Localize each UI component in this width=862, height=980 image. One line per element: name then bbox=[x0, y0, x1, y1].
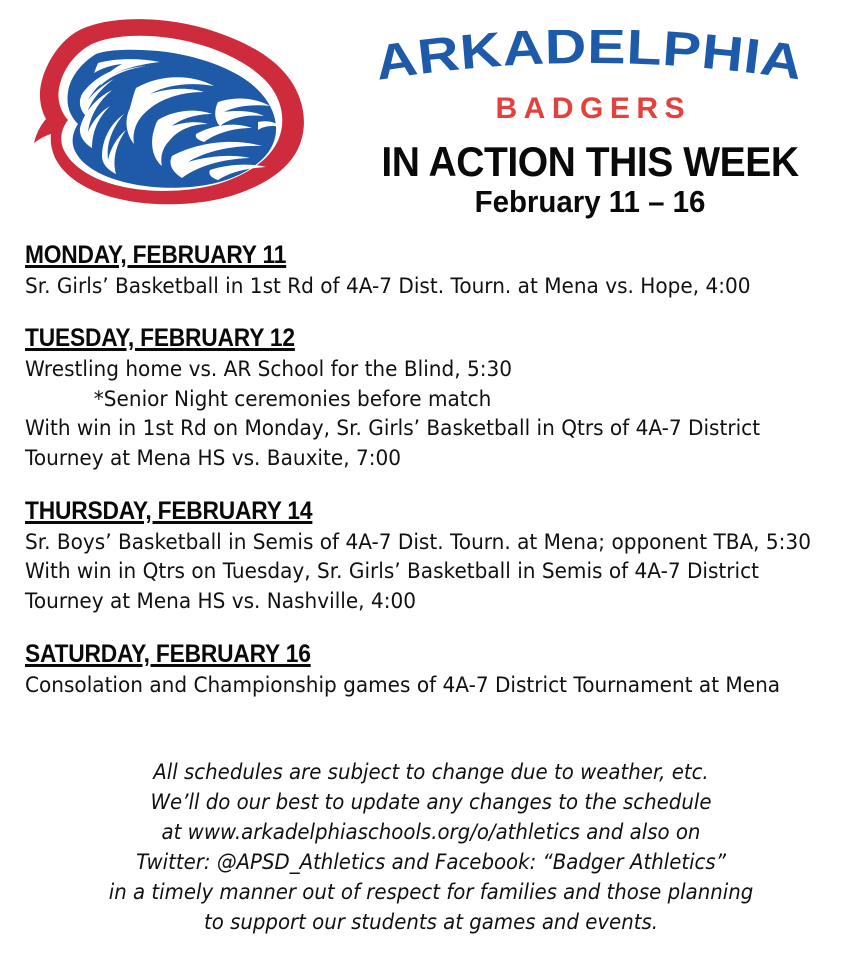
schedule-day-heading: TUESDAY, FEBRUARY 12 bbox=[25, 323, 780, 354]
arkadelphia-wordmark: ARKADELPHIA bbox=[370, 30, 810, 92]
schedule-day-block: MONDAY, FEBRUARY 11Sr. Girls’ Basketball… bbox=[25, 240, 855, 301]
schedule-day-events: Sr. Girls’ Basketball in 1st Rd of 4A-7 … bbox=[25, 272, 855, 302]
schedule-day-heading: THURSDAY, FEBRUARY 14 bbox=[25, 496, 780, 527]
schedule-day-heading: MONDAY, FEBRUARY 11 bbox=[25, 240, 780, 271]
schedule-event-line: With win in 1st Rd on Monday, Sr. Girls’… bbox=[25, 414, 818, 444]
arkadelphia-wordmark-text: ARKADELPHIA bbox=[372, 30, 806, 91]
date-range: February 11 – 16 bbox=[343, 185, 837, 219]
wordmark-block: ARKADELPHIA BADGERS IN ACTION THIS WEEK … bbox=[330, 30, 850, 219]
schedule-event-line: With win in Qtrs on Tuesday, Sr. Girls’ … bbox=[25, 557, 818, 587]
footer-note-line: in a timely manner out of respect for fa… bbox=[26, 877, 836, 907]
footer-note-line: Twitter: @APSD_Athletics and Facebook: “… bbox=[26, 847, 836, 877]
schedule-event-line: Tourney at Mena HS vs. Nashville, 4:00 bbox=[25, 587, 818, 617]
footer-note-line: All schedules are subject to change due … bbox=[26, 757, 836, 787]
schedule-day-events: Sr. Boys’ Basketball in Semis of 4A-7 Di… bbox=[25, 528, 855, 617]
header: ARKADELPHIA BADGERS IN ACTION THIS WEEK … bbox=[0, 0, 862, 228]
schedule-day-heading: SATURDAY, FEBRUARY 16 bbox=[25, 639, 780, 670]
schedule-day-events: Consolation and Championship games of 4A… bbox=[25, 671, 855, 701]
schedule-event-note: *Senior Night ceremonies before match bbox=[25, 385, 818, 415]
schedule-day-block: SATURDAY, FEBRUARY 16Consolation and Cha… bbox=[25, 639, 855, 700]
schedule-event-line: Sr. Girls’ Basketball in 1st Rd of 4A-7 … bbox=[25, 272, 818, 302]
schedule-day-events: Wrestling home vs. AR School for the Bli… bbox=[25, 355, 855, 474]
badgers-wordmark-text: BADGERS bbox=[330, 94, 850, 124]
schedule-event-line: Consolation and Championship games of 4A… bbox=[25, 671, 818, 701]
schedule-event-line: Sr. Boys’ Basketball in Semis of 4A-7 Di… bbox=[25, 528, 818, 558]
footer-note-line: We’ll do our best to update any changes … bbox=[26, 787, 836, 817]
footer-disclaimer: All schedules are subject to change due … bbox=[0, 757, 862, 937]
page-title: IN ACTION THIS WEEK bbox=[348, 140, 832, 184]
schedule-list: MONDAY, FEBRUARY 11Sr. Girls’ Basketball… bbox=[25, 240, 855, 700]
badger-head-logo bbox=[22, 16, 322, 212]
schedule-day-block: TUESDAY, FEBRUARY 12Wrestling home vs. A… bbox=[25, 323, 855, 474]
schedule-event-line: Tourney at Mena HS vs. Bauxite, 7:00 bbox=[25, 444, 818, 474]
schedule-event-line: Wrestling home vs. AR School for the Bli… bbox=[25, 355, 818, 385]
svg-text:ARKADELPHIA: ARKADELPHIA bbox=[372, 30, 806, 91]
footer-note-line: to support our students at games and eve… bbox=[26, 907, 836, 937]
footer-note-line: at www.arkadelphiaschools.org/o/athletic… bbox=[26, 817, 836, 847]
schedule-day-block: THURSDAY, FEBRUARY 14Sr. Boys’ Basketbal… bbox=[25, 496, 855, 617]
